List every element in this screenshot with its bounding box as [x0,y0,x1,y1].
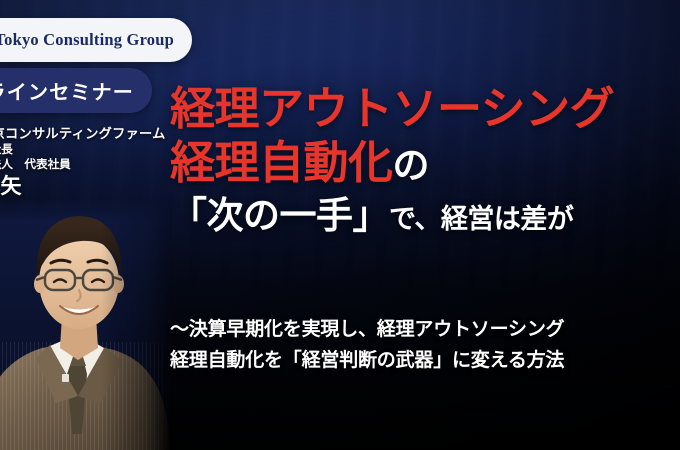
brand-badge-label: Tokyo Consulting Group [0,30,174,50]
headline-line-2-accent: 経理自動化 [170,137,393,188]
headline-line-3: 「次の一手」で、経営は差が [170,197,680,234]
subtitle-line-2: 経理自動化を「経営判断の武器」に変える方法 [170,346,680,377]
speaker-role-1: 役社長 [0,142,188,157]
event-type-badge: ンラインセミナー [0,68,152,113]
headline-line-2: 経理自動化の [170,140,680,185]
speaker-name: 鉄矢 [0,175,188,199]
speaker-photo-illustration [0,198,172,450]
speaker-role-2: 士法人 代表社員 [0,157,188,174]
event-type-badge-label: ンラインセミナー [0,76,134,105]
headline-line-2-suffix: の [393,145,430,186]
headline-line-3-main: 「次の一手」 [170,195,389,236]
speaker-info: 東京コンサルティングファーム 役社長 士法人 代表社員 鉄矢 [0,126,188,199]
headline-line-3-tail: で、経営は差が [389,204,573,234]
brand-badge: Tokyo Consulting Group [0,18,192,62]
speaker-photo [0,198,172,450]
headline: 経理アウトソーシング 経理自動化の 「次の一手」で、経営は差が [170,86,680,234]
headline-line-1: 経理アウトソーシング [170,86,680,131]
seminar-banner: Tokyo Consulting Group ンラインセミナー 東京コンサルティ… [0,0,680,450]
speaker-company: 東京コンサルティングファーム [0,126,188,142]
subtitle: 〜決算早期化を実現し、経理アウトソーシング 経理自動化を「経営判断の武器」に変え… [170,315,680,377]
subtitle-line-1: 〜決算早期化を実現し、経理アウトソーシング [170,315,680,346]
